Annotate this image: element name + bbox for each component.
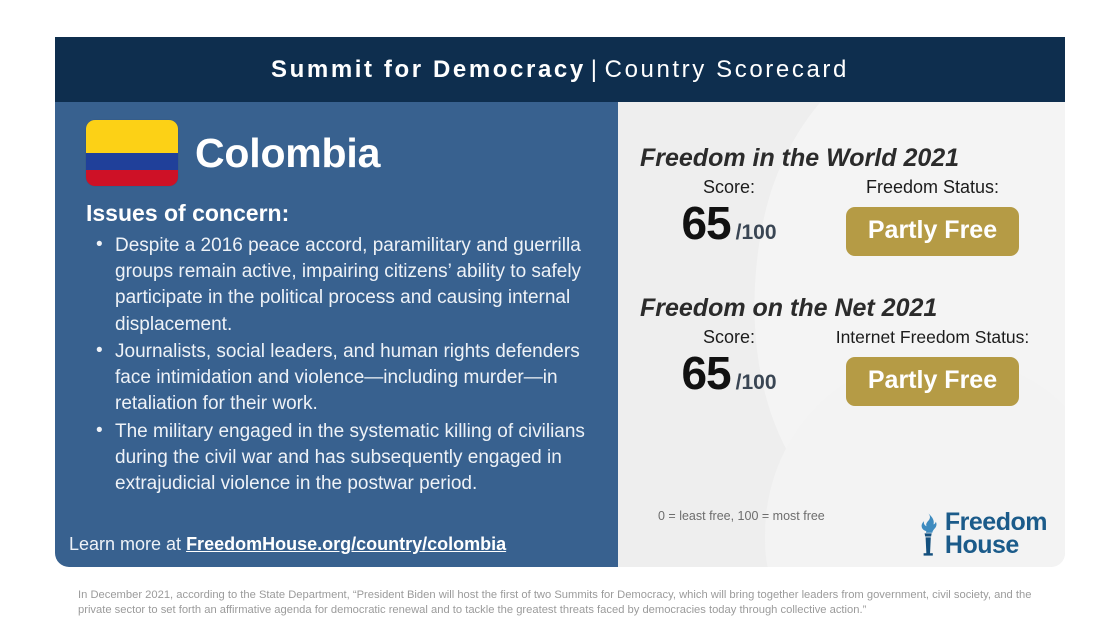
metric-block-freedom-in-the-world: Freedom in the World 2021 Score: 65 /100… bbox=[640, 102, 1047, 256]
flag-band-blue bbox=[86, 153, 178, 170]
header-title-separator: | bbox=[586, 56, 605, 83]
status-badge: Partly Free bbox=[846, 207, 1019, 256]
score-denominator: /100 bbox=[736, 221, 777, 245]
score-denominator: /100 bbox=[736, 371, 777, 395]
freedom-house-wordmark: Freedom House bbox=[945, 511, 1047, 558]
flag-band-yellow bbox=[86, 120, 178, 153]
score-line: 65 /100 bbox=[640, 200, 818, 246]
score-label: Score: bbox=[640, 327, 818, 348]
status-label: Internet Freedom Status: bbox=[818, 327, 1047, 348]
score-group: Score: 65 /100 bbox=[640, 327, 818, 396]
page-title: Summit for Democracy|Country Scorecard bbox=[271, 56, 849, 84]
list-item: Despite a 2016 peace accord, paramilitar… bbox=[115, 233, 618, 338]
status-group: Freedom Status: Partly Free bbox=[818, 177, 1047, 256]
torch-icon bbox=[915, 512, 941, 556]
metric-row: Score: 65 /100 Freedom Status: Partly Fr… bbox=[640, 177, 1047, 256]
issues-list: Despite a 2016 peace accord, paramilitar… bbox=[55, 233, 618, 497]
metric-row: Score: 65 /100 Internet Freedom Status: … bbox=[640, 327, 1047, 406]
metrics-content: Freedom in the World 2021 Score: 65 /100… bbox=[618, 102, 1065, 406]
country-name: Colombia bbox=[195, 130, 380, 177]
status-group: Internet Freedom Status: Partly Free bbox=[818, 327, 1047, 406]
logo-line-2: House bbox=[945, 534, 1047, 557]
header-title-light: Country Scorecard bbox=[605, 56, 849, 83]
header-bar: Summit for Democracy|Country Scorecard bbox=[55, 37, 1065, 102]
score-value: 65 bbox=[681, 200, 730, 246]
flag-band-red bbox=[86, 170, 178, 187]
body-split: Colombia Issues of concern: Despite a 20… bbox=[55, 102, 1065, 567]
freedom-house-logo: Freedom House bbox=[915, 511, 1047, 558]
report-title: Freedom on the Net 2021 bbox=[640, 294, 1047, 323]
learn-more-prefix: Learn more at bbox=[69, 534, 186, 554]
country-header: Colombia bbox=[55, 102, 618, 186]
freedomhouse-country-link[interactable]: FreedomHouse.org/country/colombia bbox=[186, 534, 506, 554]
country-scorecard: Summit for Democracy|Country Scorecard C… bbox=[55, 37, 1065, 567]
status-badge: Partly Free bbox=[846, 357, 1019, 406]
colombia-flag-icon bbox=[86, 120, 178, 186]
score-label: Score: bbox=[640, 177, 818, 198]
score-group: Score: 65 /100 bbox=[640, 177, 818, 246]
list-item: Journalists, social leaders, and human r… bbox=[115, 339, 618, 418]
list-item: The military engaged in the systematic k… bbox=[115, 419, 618, 498]
report-title: Freedom in the World 2021 bbox=[640, 144, 1047, 173]
left-panel: Colombia Issues of concern: Despite a 20… bbox=[55, 102, 618, 567]
status-label: Freedom Status: bbox=[818, 177, 1047, 198]
score-line: 65 /100 bbox=[640, 350, 818, 396]
score-value: 65 bbox=[681, 350, 730, 396]
header-title-bold: Summit for Democracy bbox=[271, 56, 586, 83]
right-panel: Freedom in the World 2021 Score: 65 /100… bbox=[618, 102, 1065, 567]
footer-note: In December 2021, according to the State… bbox=[78, 588, 1048, 619]
learn-more: Learn more at FreedomHouse.org/country/c… bbox=[69, 534, 506, 555]
issues-heading: Issues of concern: bbox=[86, 200, 618, 227]
scale-note: 0 = least free, 100 = most free bbox=[658, 509, 825, 523]
metric-block-freedom-on-the-net: Freedom on the Net 2021 Score: 65 /100 I… bbox=[640, 256, 1047, 406]
